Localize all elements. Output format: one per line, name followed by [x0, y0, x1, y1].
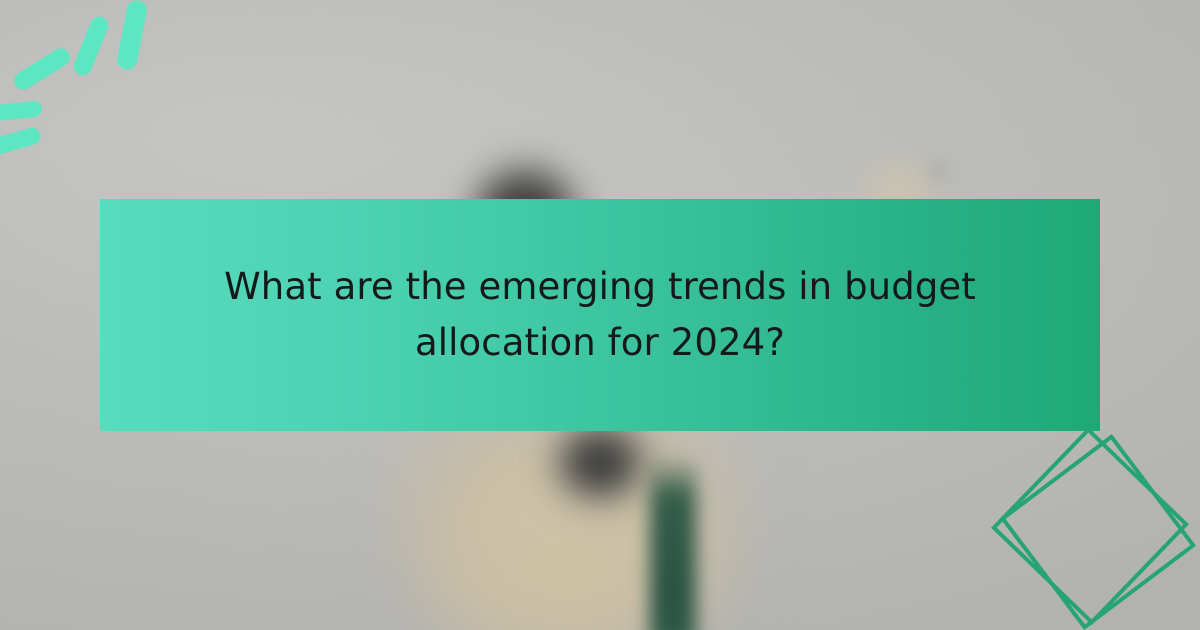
headline-banner: What are the emerging trends in budget a… — [100, 199, 1100, 431]
page-title: What are the emerging trends in budget a… — [164, 259, 1036, 371]
social-card: What are the emerging trends in budget a… — [0, 0, 1200, 630]
